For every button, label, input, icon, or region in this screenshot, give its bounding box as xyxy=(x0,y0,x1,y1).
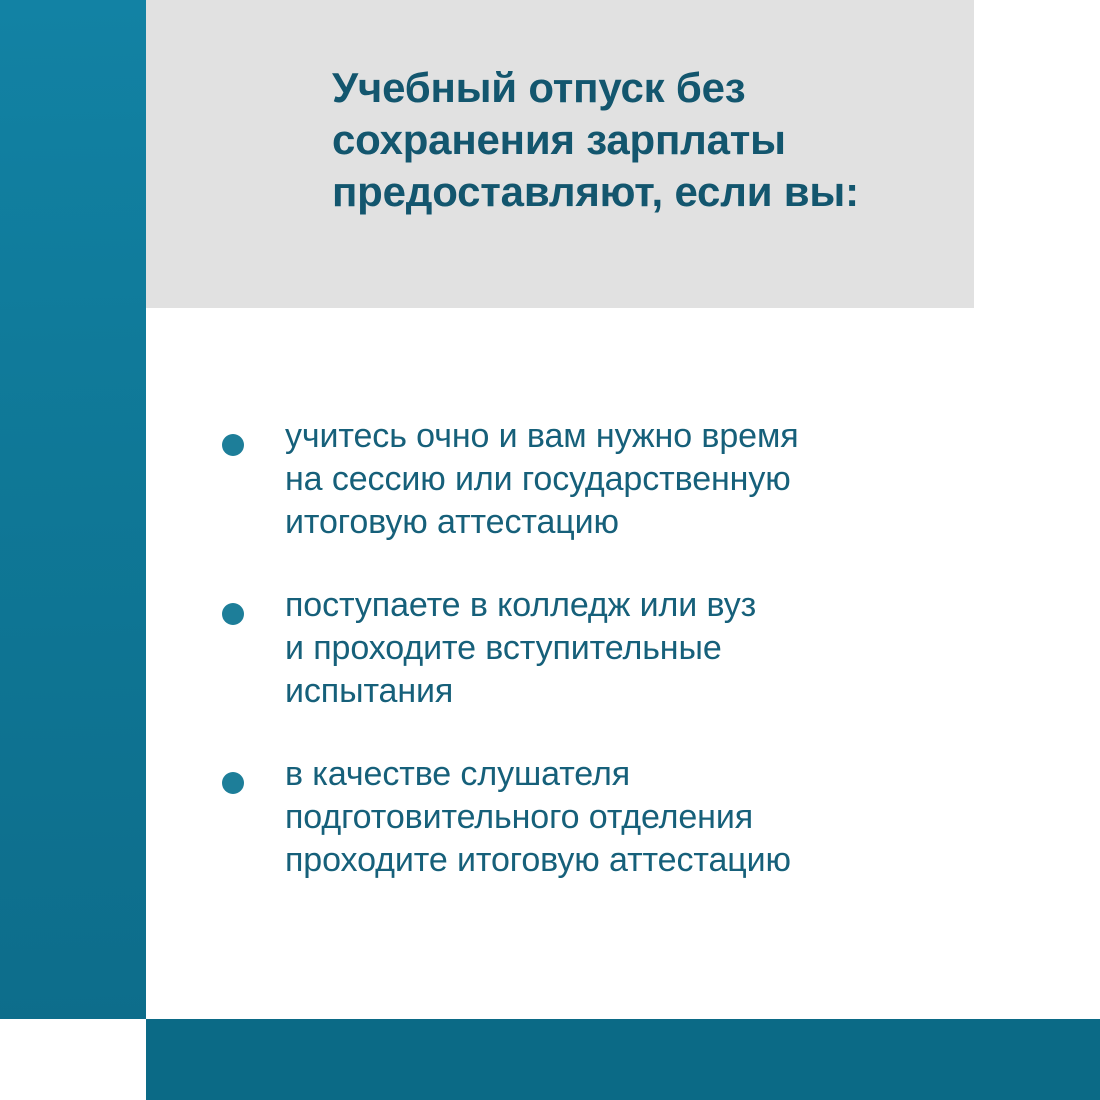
list-item: в качестве слушателя подготовительного о… xyxy=(210,753,1040,882)
condition-list: учитесь очно и вам нужно время на сессию… xyxy=(210,415,1040,882)
list-item: поступаете в колледж или вуз и проходите… xyxy=(210,584,1040,713)
list-item-text: учитесь очно и вам нужно время на сессию… xyxy=(285,415,1040,544)
bullet-dot-icon xyxy=(222,603,244,625)
slide-canvas: Учебный отпуск без сохранения зарплаты п… xyxy=(0,0,1100,1100)
bullet-dot-icon xyxy=(222,772,244,794)
page-title: Учебный отпуск без сохранения зарплаты п… xyxy=(332,62,1092,218)
header-panel: Учебный отпуск без сохранения зарплаты п… xyxy=(146,0,974,308)
bottom-accent-bar xyxy=(146,1019,1100,1100)
list-item-text: поступаете в колледж или вуз и проходите… xyxy=(285,584,1040,713)
left-accent-bar xyxy=(0,0,146,1019)
bullet-dot-icon xyxy=(222,434,244,456)
list-item: учитесь очно и вам нужно время на сессию… xyxy=(210,415,1040,544)
list-item-text: в качестве слушателя подготовительного о… xyxy=(285,753,1040,882)
